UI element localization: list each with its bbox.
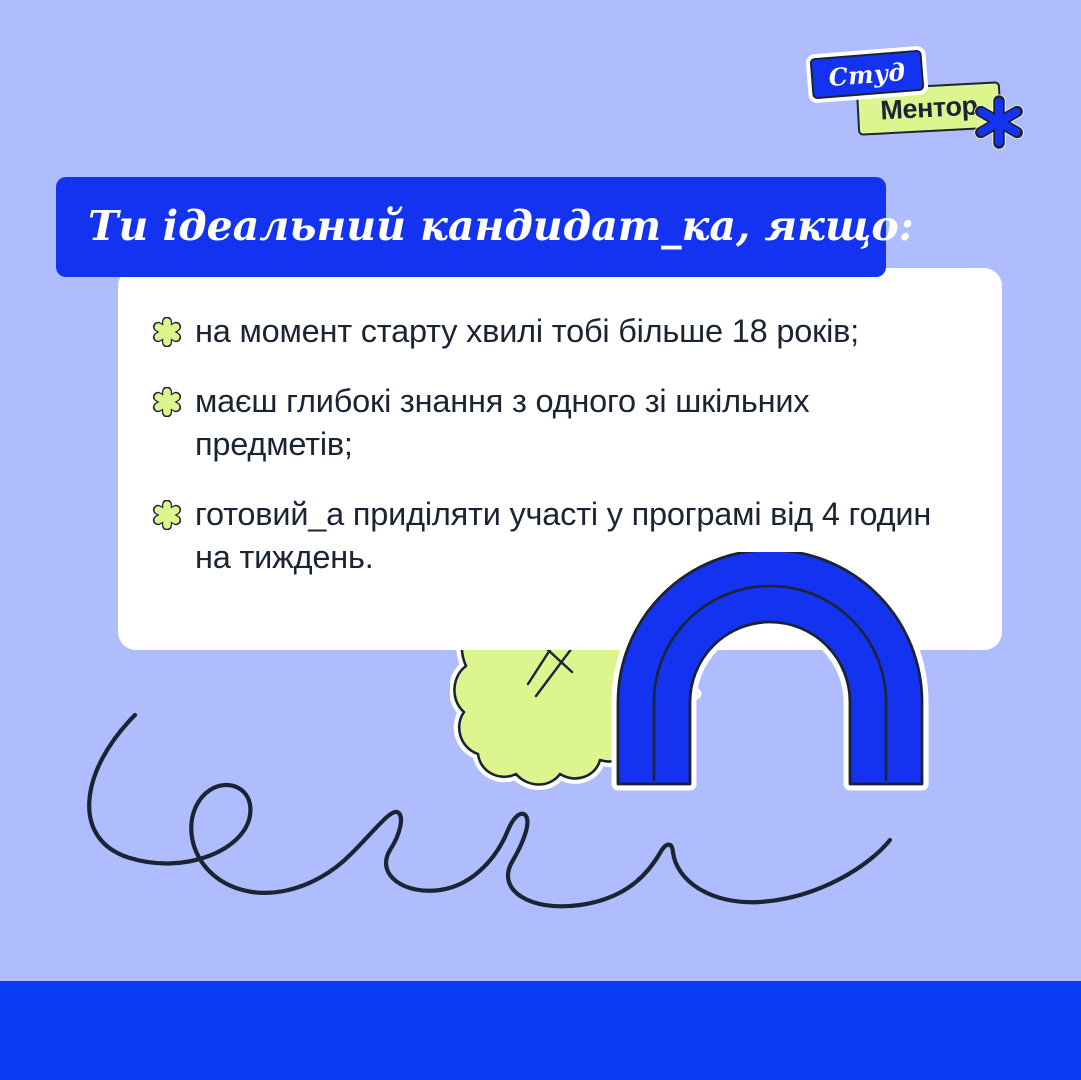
header-banner: Ти ідеальний кандидат_ка, якщо:	[56, 177, 886, 277]
page-title: Ти ідеальний кандидат_ка, якщо:	[56, 204, 914, 249]
footer-bar	[0, 981, 1081, 1080]
requirements-list: на момент старту хвилі тобі більше 18 ро…	[152, 310, 968, 580]
list-item-label: на момент старту хвилі тобі більше 18 ро…	[195, 310, 859, 354]
list-item-label: маєш глибокі знання з одного зі шкільних…	[195, 380, 968, 467]
logo-mentor-label: Ментор	[880, 92, 979, 124]
green-asterisk-bullet-icon	[152, 317, 182, 347]
blue-arch-shape-icon	[610, 552, 970, 792]
logo-stud-label: Студ	[828, 60, 906, 90]
asterisk-icon	[968, 91, 1030, 153]
brand-logo[interactable]: Студ Ментор	[805, 52, 1035, 162]
list-item: маєш глибокі знання з одного зі шкільних…	[152, 380, 968, 467]
list-item: на момент старту хвилі тобі більше 18 ро…	[152, 310, 968, 354]
green-asterisk-bullet-icon	[152, 387, 182, 417]
logo-stud-box: Студ	[810, 50, 925, 100]
green-asterisk-bullet-icon	[152, 500, 182, 530]
poster-canvas: Студ Ментор	[0, 0, 1081, 1080]
